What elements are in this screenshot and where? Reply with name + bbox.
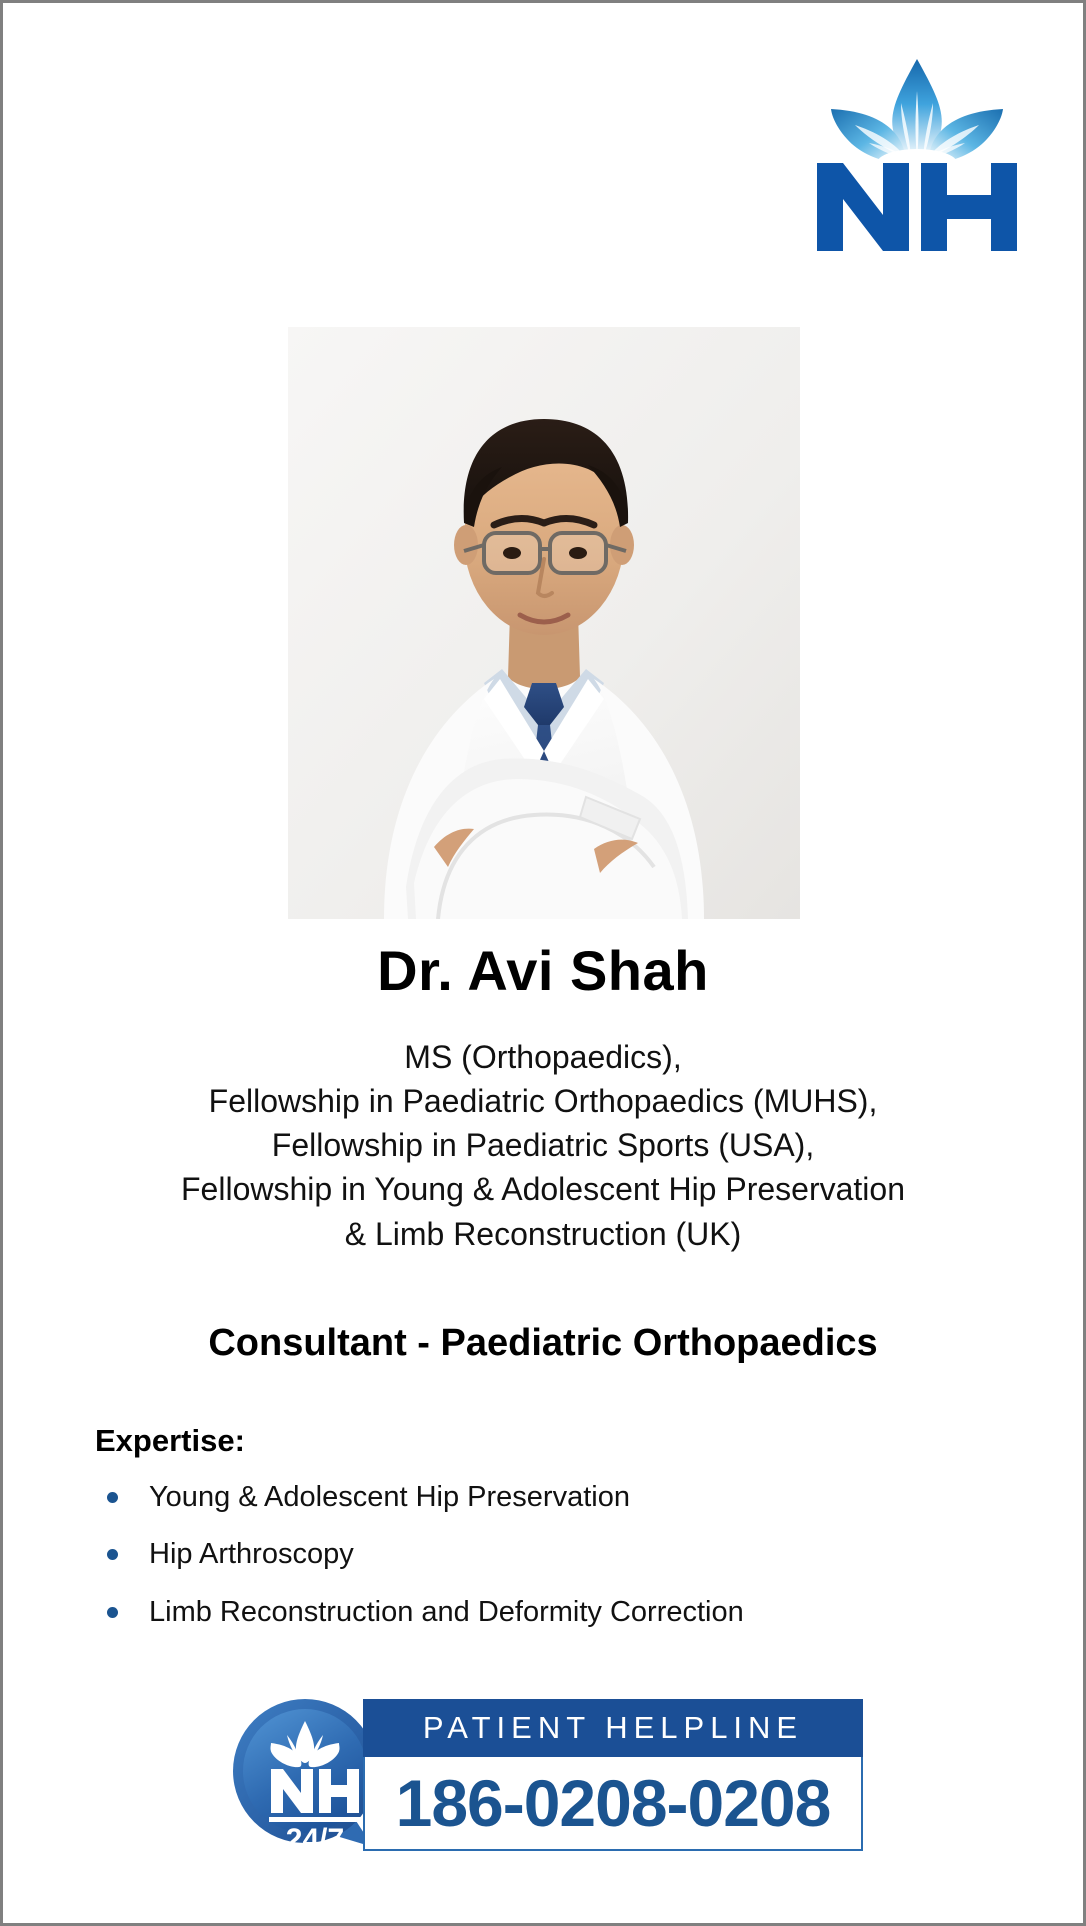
credential-line: Fellowship in Young & Adolescent Hip Pre… xyxy=(33,1167,1053,1211)
helpline-panel: PATIENT HELPLINE 186-0208-0208 xyxy=(363,1699,863,1851)
expertise-section: Expertise: Young & Adolescent Hip Preser… xyxy=(95,1423,1023,1653)
credential-line: & Limb Reconstruction (UK) xyxy=(33,1212,1053,1256)
credential-line: MS (Orthopaedics), xyxy=(33,1035,1053,1079)
list-item-label: Young & Adolescent Hip Preservation xyxy=(149,1481,630,1513)
helpline-number[interactable]: 186-0208-0208 xyxy=(363,1757,863,1851)
doctor-credentials: MS (Orthopaedics), Fellowship in Paediat… xyxy=(33,1035,1053,1256)
expertise-list: Young & Adolescent Hip Preservation Hip … xyxy=(95,1481,1023,1629)
nh-leaf-icon xyxy=(809,51,1025,171)
list-item: Young & Adolescent Hip Preservation xyxy=(95,1481,1023,1514)
doctor-photo xyxy=(288,327,800,919)
bullet-icon xyxy=(107,1549,118,1560)
doctor-designation: Consultant - Paediatric Orthopaedics xyxy=(3,1323,1083,1365)
svg-text:24/7: 24/7 xyxy=(286,1823,344,1855)
list-item: Hip Arthroscopy xyxy=(95,1538,1023,1571)
list-item-label: Limb Reconstruction and Deformity Correc… xyxy=(149,1596,744,1628)
helpline-title: PATIENT HELPLINE xyxy=(363,1699,863,1757)
bullet-icon xyxy=(107,1607,118,1618)
credential-line: Fellowship in Paediatric Sports (USA), xyxy=(33,1123,1053,1167)
list-item-label: Hip Arthroscopy xyxy=(149,1538,354,1570)
patient-helpline[interactable]: 24/7 PATIENT HELPLINE 186-0208-0208 xyxy=(229,1689,869,1861)
bullet-icon xyxy=(107,1492,118,1503)
nh-logo xyxy=(809,51,1025,247)
page-title: Dr. Avi Shah xyxy=(3,943,1083,999)
expertise-heading: Expertise: xyxy=(95,1423,1023,1459)
credential-line: Fellowship in Paediatric Orthopaedics (M… xyxy=(33,1079,1053,1123)
nh-wordmark xyxy=(817,163,1017,251)
list-item: Limb Reconstruction and Deformity Correc… xyxy=(95,1596,1023,1629)
doctor-profile-card: Dr. Avi Shah MS (Orthopaedics), Fellowsh… xyxy=(0,0,1086,1926)
